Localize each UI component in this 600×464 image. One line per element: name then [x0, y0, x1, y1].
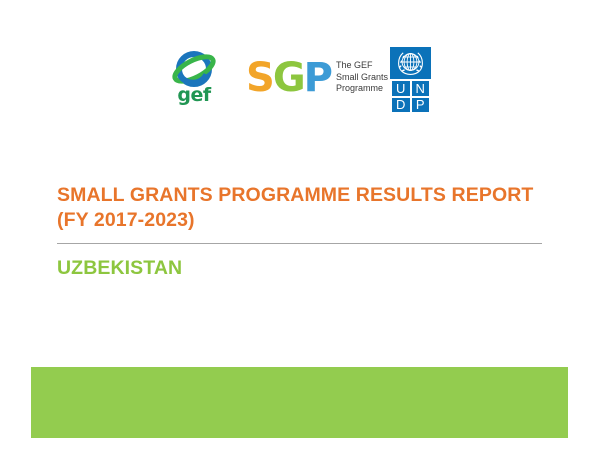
undp-letter-grid: U N D P	[390, 79, 431, 114]
undp-logo: U N D P	[390, 47, 431, 114]
undp-letter-p: P	[412, 98, 430, 113]
gef-logo: gef	[168, 50, 220, 112]
title-block: SMALL GRANTS PROGRAMME RESULTS REPORT (F…	[57, 183, 543, 280]
gef-globe-orbit-icon	[172, 50, 216, 88]
country-subtitle: UZBEKISTAN	[57, 256, 543, 280]
sgp-letter-s: S	[246, 55, 273, 101]
sgp-tagline-line-2: Small Grants	[336, 72, 388, 84]
sgp-letter-g: G	[273, 55, 304, 101]
page-title-line-2: (FY 2017-2023)	[57, 208, 543, 233]
undp-letter-u: U	[392, 81, 410, 96]
sgp-logo: SGP The GEF Small Grants Programme	[246, 58, 376, 106]
title-divider	[57, 243, 542, 244]
sgp-lettermark: SGP	[246, 58, 331, 98]
sgp-letter-p: P	[304, 55, 331, 101]
sgp-tagline: The GEF Small Grants Programme	[336, 60, 388, 95]
undp-letter-n: N	[412, 81, 430, 96]
un-globe-laurel-icon	[390, 47, 431, 79]
sgp-tagline-line-1: The GEF	[336, 60, 388, 72]
green-accent-band	[31, 367, 568, 438]
gef-wordmark: gef	[168, 86, 220, 105]
sgp-tagline-line-3: Programme	[336, 83, 388, 95]
logo-strip: gef SGP The GEF Small Grants Programme	[0, 44, 600, 118]
page-title: SMALL GRANTS PROGRAMME RESULTS REPORT (F…	[57, 183, 543, 233]
undp-letter-d: D	[392, 98, 410, 113]
page-title-line-1: SMALL GRANTS PROGRAMME RESULTS REPORT	[57, 183, 543, 208]
